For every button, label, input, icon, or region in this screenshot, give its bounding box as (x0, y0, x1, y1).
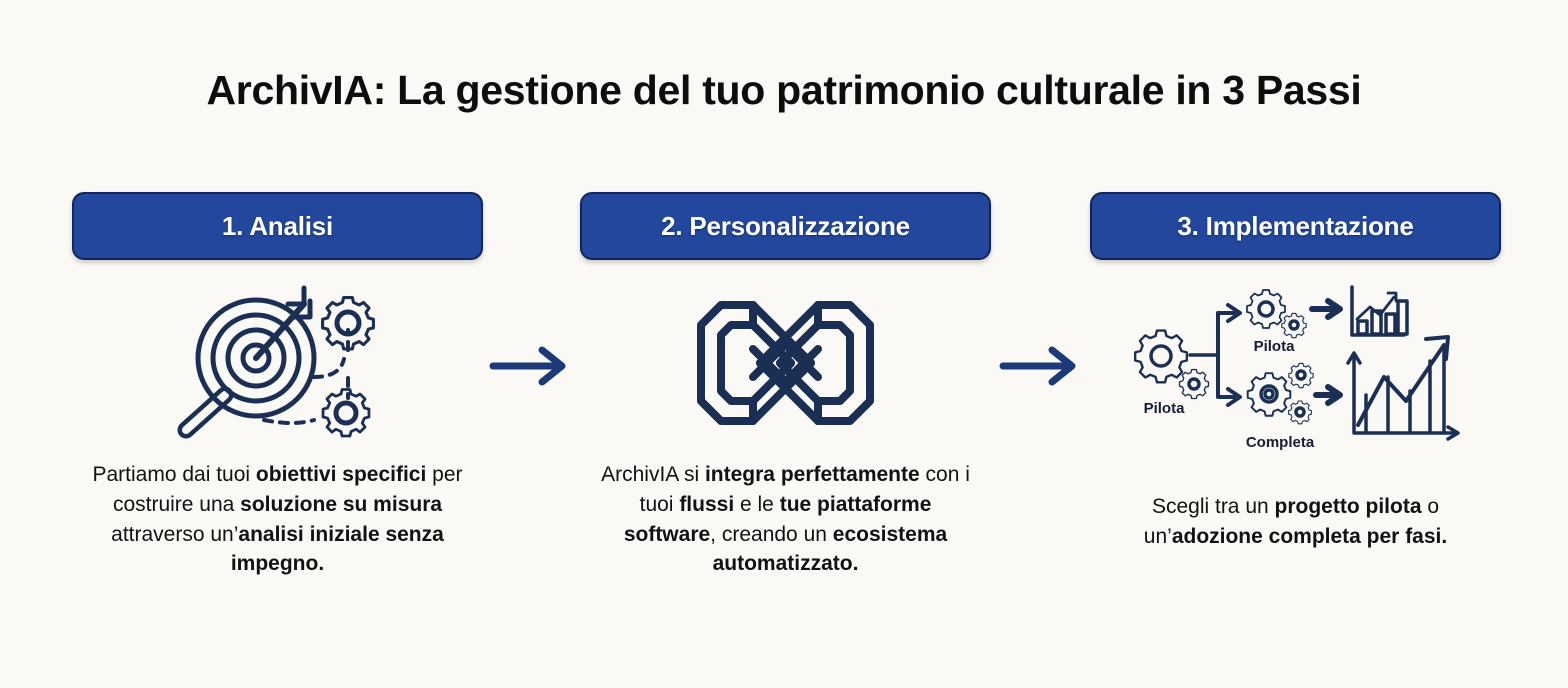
target-magnifier-gears-icon (168, 280, 388, 445)
page-title: ArchivIA: La gestione del tuo patrimonio… (0, 68, 1568, 113)
arrow-step1-to-step2 (489, 345, 574, 392)
step-badge-1[interactable]: 1. Analisi (72, 192, 483, 260)
step-badge-label-3: 3. Implementazione (1177, 211, 1413, 242)
interlocking-knot-icon (693, 283, 878, 443)
icon3-label-branch-bottom: Completa (1245, 434, 1314, 451)
pilot-rollout-charts-icon: Pilota Pilota Completa (1126, 273, 1466, 453)
step-description-2: ArchivIA si integra perfettamente con i … (580, 460, 991, 579)
step-badge-3[interactable]: 3. Implementazione (1090, 192, 1501, 260)
step-badge-label-2: 2. Personalizzazione (661, 211, 910, 242)
step-icon-3-wrap: Pilota Pilota Completa (1090, 275, 1501, 450)
step-description-3: Scegli tra un progetto pilota o un’adozi… (1090, 492, 1501, 552)
icon3-label-branch-top: Pilota (1253, 338, 1294, 355)
step-badge-label-1: 1. Analisi (222, 211, 333, 242)
step-column-1: 1. Analisi (72, 192, 483, 579)
step-icon-1-wrap (72, 275, 483, 450)
step-description-1: Partiamo dai tuoi obiettivi specifici pe… (72, 460, 483, 579)
step-column-3: 3. Implementazione (1090, 192, 1501, 552)
icon3-label-source: Pilota (1143, 400, 1184, 417)
step-badge-2[interactable]: 2. Personalizzazione (580, 192, 991, 260)
arrow-step2-to-step3 (999, 345, 1084, 392)
step-icon-2-wrap (580, 275, 991, 450)
step-column-2: 2. Personalizzazione (580, 192, 991, 579)
